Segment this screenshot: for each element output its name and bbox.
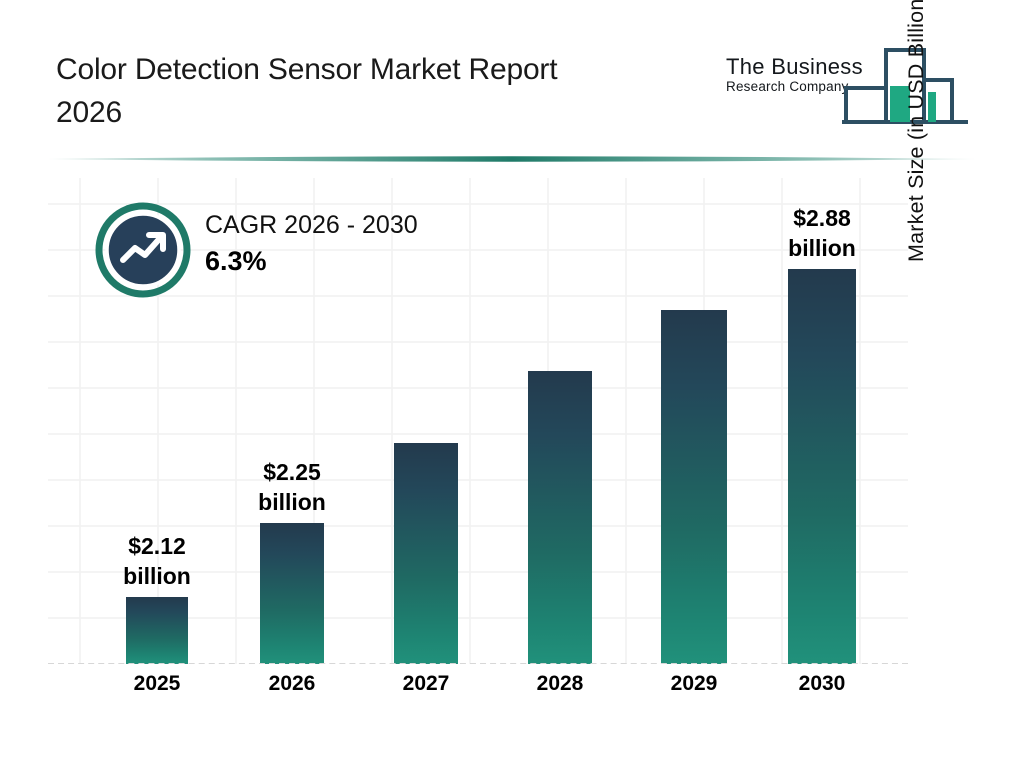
bar-value-label-2026-line-1: $2.25 [238,457,346,487]
x-tick-2028: 2028 [507,672,613,696]
bar-value-label-2026: $2.25 billion [238,457,346,517]
company-logo: The Business Research Company [718,32,970,126]
report-header: Color Detection Sensor Market Report 202… [0,0,1024,150]
table-row[interactable] [260,523,324,664]
bar-value-label-2030: $2.88 billion [766,203,878,263]
bar-value-label-2030-line-2: billion [766,233,878,263]
bar-value-label-2025-line-2: billion [104,561,210,591]
trending-up-arrow-icon [95,202,191,303]
bar-slot-2029 [661,178,727,664]
table-row[interactable] [394,443,458,664]
y-axis-label: Market Size (in USD Billion) [904,0,929,262]
bar-value-label-2026-line-2: billion [238,487,346,517]
table-row[interactable] [528,371,592,664]
bar-value-label-2030-line-1: $2.88 [766,203,878,233]
bar-value-label-2025-line-1: $2.12 [104,531,210,561]
page-title: Color Detection Sensor Market Report 202… [56,48,676,134]
page-title-line-2: 2026 [56,91,676,134]
x-tick-2030: 2030 [769,672,875,696]
table-row[interactable] [788,269,856,664]
table-row[interactable] [126,597,188,664]
x-tick-2027: 2027 [373,672,479,696]
plot-area: $2.12 billion $2.25 billion [48,178,908,664]
cagr-period-label: CAGR 2026 - 2030 [205,208,418,242]
bar-slot-2028 [528,178,592,664]
x-tick-2029: 2029 [641,672,747,696]
cagr-callout: CAGR 2026 - 2030 6.3% [95,202,515,302]
cagr-text-block: CAGR 2026 - 2030 6.3% [205,208,418,280]
chart-baseline [48,663,908,664]
bar-slot-2030: $2.88 billion [788,178,856,664]
x-tick-2025: 2025 [104,672,210,696]
market-size-bar-chart: $2.12 billion $2.25 billion [48,178,976,738]
page-title-line-1: Color Detection Sensor Market Report [56,48,676,91]
x-axis: 2025 2026 2027 2028 2029 2030 [48,672,908,712]
cagr-value: 6.3% [205,242,418,280]
x-tick-2026: 2026 [239,672,345,696]
table-row[interactable] [661,310,727,664]
header-divider [48,152,976,164]
bar-value-label-2025: $2.12 billion [104,531,210,591]
